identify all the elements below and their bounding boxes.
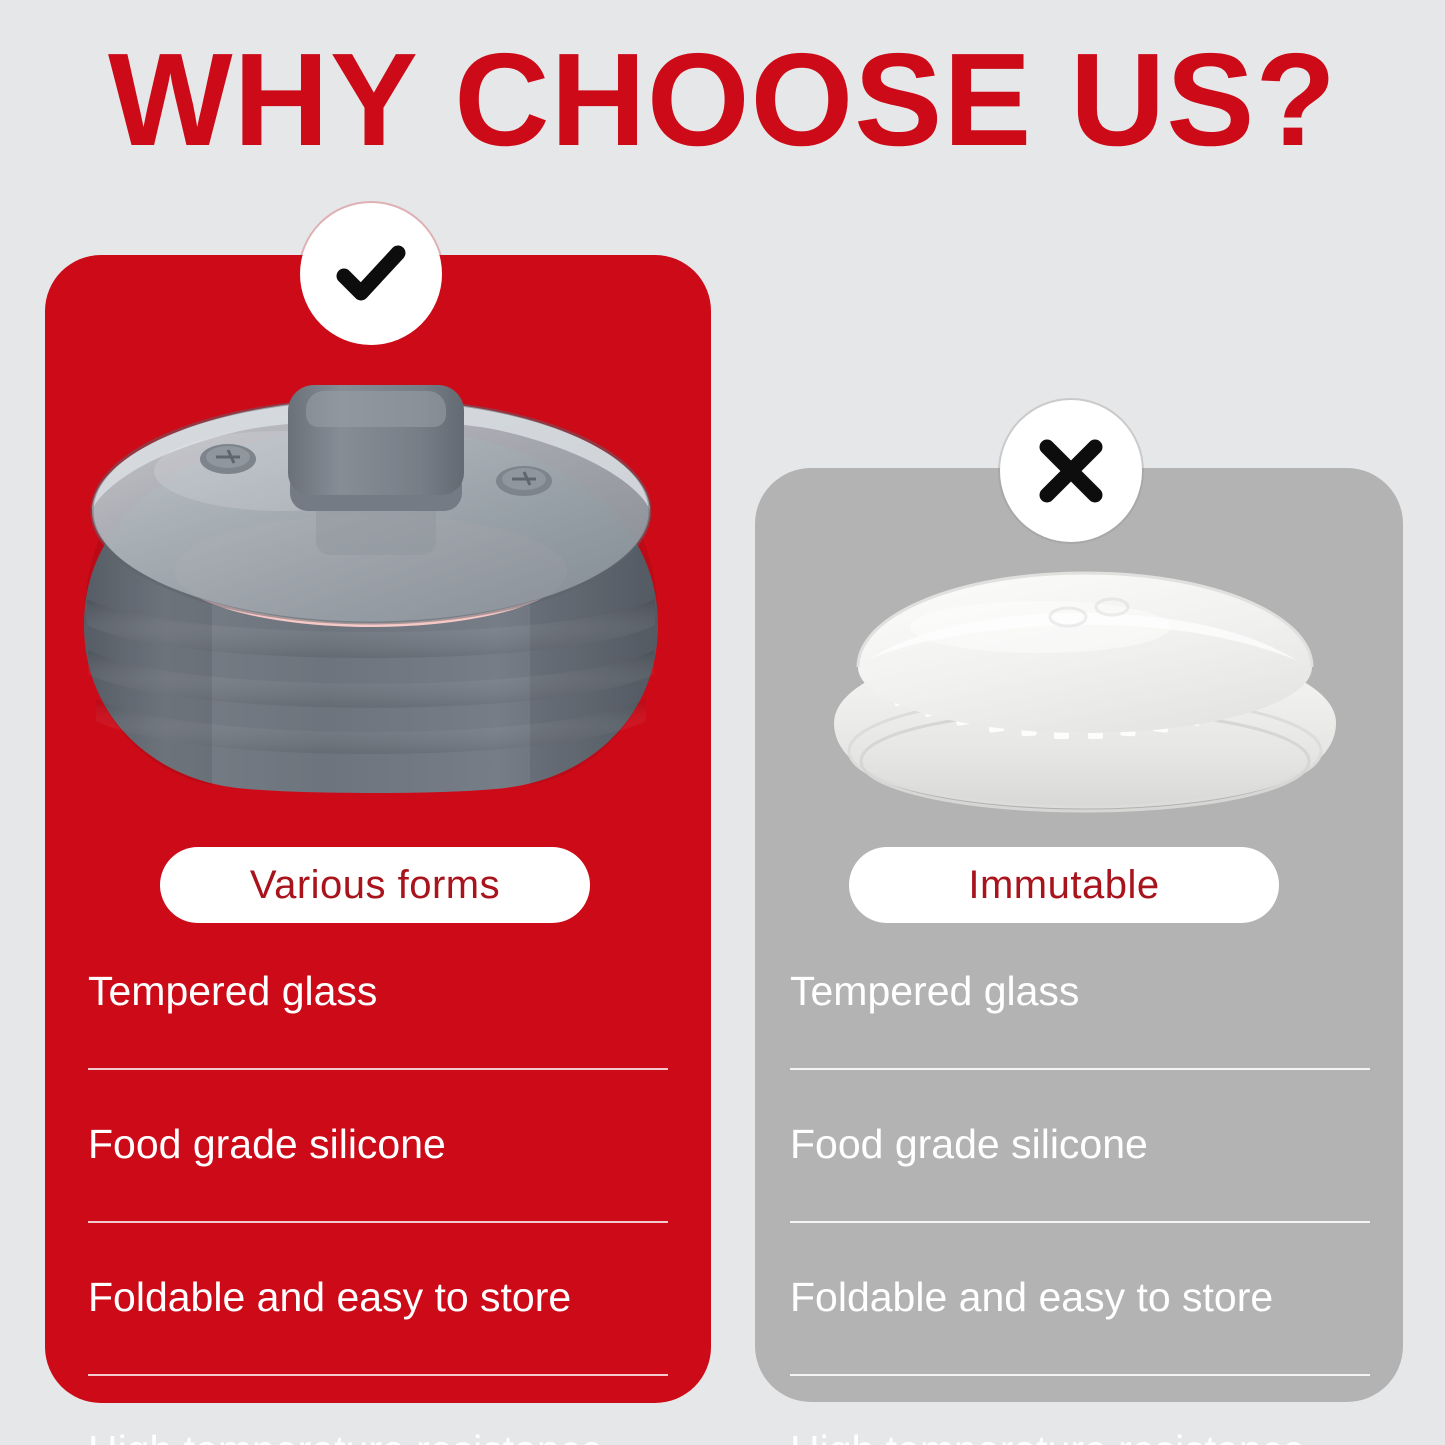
cross-icon xyxy=(1031,431,1111,511)
verdict-badge-good xyxy=(300,203,442,345)
page-title: WHY CHOOSE US? xyxy=(0,34,1445,166)
feature-item: Foldable and easy to store xyxy=(88,1221,668,1374)
infographic-canvas: WHY CHOOSE US? xyxy=(0,0,1445,1445)
product-label-good: Various forms xyxy=(160,847,590,923)
check-icon xyxy=(328,231,414,317)
product-image-collapsible-silicone-cover xyxy=(62,375,680,805)
feature-item: High temperature resistance xyxy=(790,1374,1370,1445)
feature-list-bad: Tempered glass Food grade silicone Folda… xyxy=(790,962,1370,1445)
feature-item: Tempered glass xyxy=(88,962,668,1068)
product-label-bad: Immutable xyxy=(849,847,1279,923)
feature-list-good: Tempered glass Food grade silicone Folda… xyxy=(88,962,668,1445)
feature-item: Tempered glass xyxy=(790,962,1370,1068)
feature-item: Foldable and easy to store xyxy=(790,1221,1370,1374)
verdict-badge-bad xyxy=(1000,400,1142,542)
feature-item: High temperature resistance xyxy=(88,1374,668,1445)
feature-item: Food grade silicone xyxy=(790,1068,1370,1221)
vent-rivet-right xyxy=(496,466,552,496)
product-image-rigid-plastic-cover xyxy=(800,555,1370,845)
vent-rivet-left xyxy=(200,444,256,474)
feature-item: Food grade silicone xyxy=(88,1068,668,1221)
